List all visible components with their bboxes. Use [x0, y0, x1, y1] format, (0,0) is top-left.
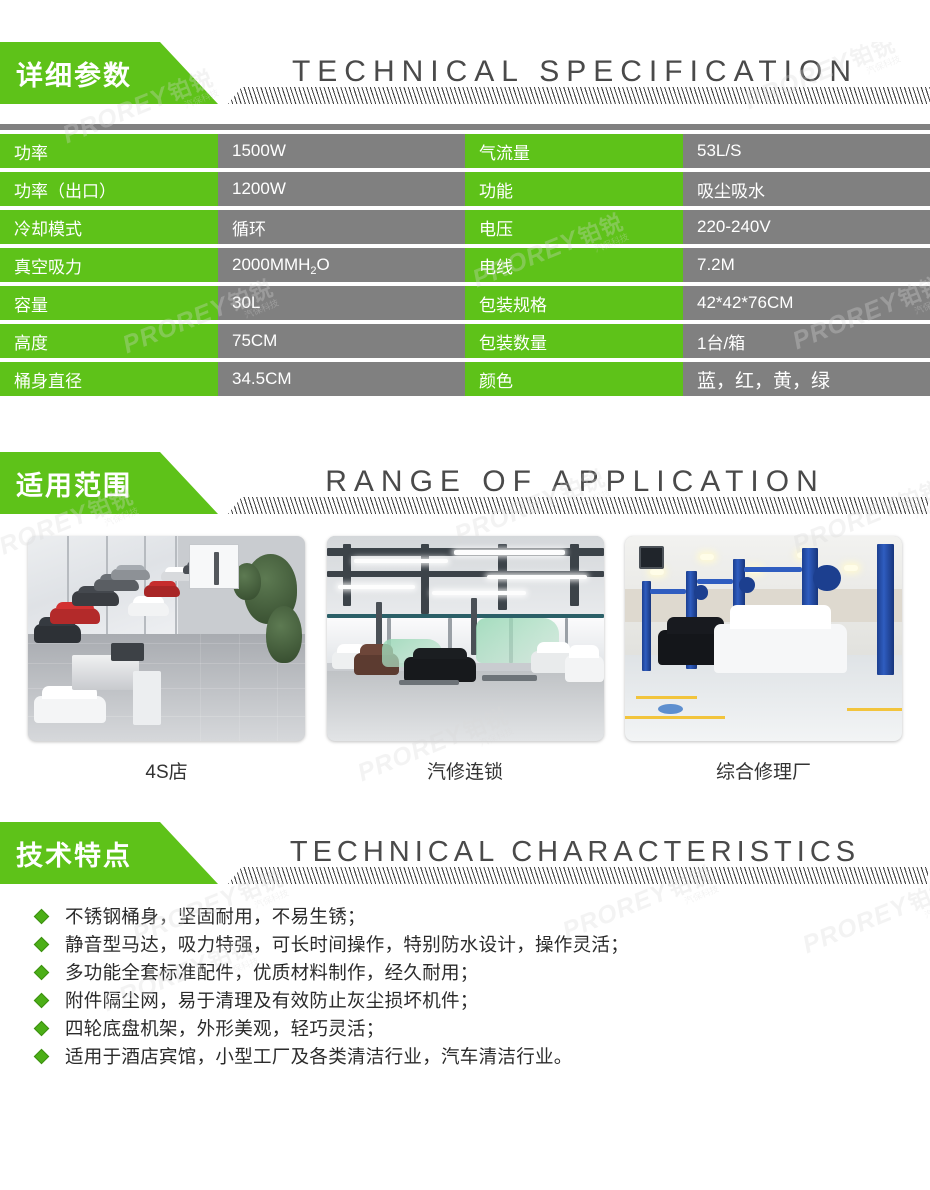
- table-row: 冷却模式 循环 电压 220-240V: [0, 210, 930, 244]
- section-tag-specification: 详细参数: [0, 42, 218, 104]
- section-title-english: RANGE OF APPLICATION: [228, 460, 922, 504]
- application-caption: 4S店: [28, 757, 305, 784]
- spec-value: 34.5CM: [218, 362, 465, 396]
- list-item: 不锈钢桶身，坚固耐用，不易生锈；: [36, 902, 930, 930]
- list-item: 多功能全套标准配件，优质材料制作，经久耐用；: [36, 958, 930, 986]
- spec-key: 功率: [0, 134, 218, 168]
- table-row: 桶身直径 34.5CM 颜色 蓝，红，黄，绿: [0, 362, 930, 396]
- diamond-bullet-icon: [34, 908, 50, 924]
- spec-key: 电压: [465, 210, 683, 244]
- spec-key: 电线: [465, 248, 683, 282]
- diamond-bullet-icon: [34, 1020, 50, 1036]
- diamond-bullet-icon: [34, 964, 50, 980]
- application-caption: 汽修连锁: [327, 757, 604, 784]
- spec-key: 包装数量: [465, 324, 683, 358]
- spec-key: 功能: [465, 172, 683, 206]
- section-tag-label: 适用范围: [0, 464, 132, 503]
- feature-text: 四轮底盘机架，外形美观，轻巧灵活；: [65, 1015, 385, 1041]
- feature-text: 静音型马达，吸力特强，可长时间操作，特别防水设计，操作灵活；: [65, 931, 629, 957]
- application-photo-workshop: [327, 536, 604, 741]
- spec-key: 功率（出口）: [0, 172, 218, 206]
- table-row: 功率（出口） 1200W 功能 吸尘吸水: [0, 172, 930, 206]
- section-tag-application: 适用范围: [0, 452, 218, 514]
- section-tag-label: 详细参数: [0, 54, 132, 93]
- vacuum-subscript: 2: [310, 265, 316, 277]
- list-item: 四轮底盘机架，外形美观，轻巧灵活；: [36, 1014, 930, 1042]
- spec-value: 30L: [218, 286, 465, 320]
- specification-table-wrapper: 功率 1500W 气流量 53L/S 功率（出口） 1200W 功能 吸尘吸水 …: [0, 124, 930, 400]
- diamond-bullet-icon: [34, 936, 50, 952]
- spec-value: 220-240V: [683, 210, 930, 244]
- spec-key: 气流量: [465, 134, 683, 168]
- table-row: 容量 30L 包装规格 42*42*76CM: [0, 286, 930, 320]
- spec-key: 容量: [0, 286, 218, 320]
- application-card: 汽修连锁: [327, 536, 604, 784]
- diamond-bullet-icon: [34, 1048, 50, 1064]
- feature-text: 适用于酒店宾馆，小型工厂及各类清洁行业，汽车清洁行业。: [65, 1043, 573, 1069]
- spec-key: 颜色: [465, 362, 683, 396]
- spec-key: 桶身直径: [0, 362, 218, 396]
- diamond-bullet-icon: [34, 992, 50, 1008]
- spec-key: 真空吸力: [0, 248, 218, 282]
- application-card: 综合修理厂: [625, 536, 902, 784]
- list-item: 附件隔尘网，易于清理及有效防止灰尘损坏机件；: [36, 986, 930, 1014]
- spec-value: 1500W: [218, 134, 465, 168]
- spec-value: 吸尘吸水: [683, 172, 930, 206]
- vacuum-prefix: 2000MMH: [232, 255, 310, 274]
- section-header-application: 适用范围 RANGE OF APPLICATION: [0, 452, 930, 514]
- spec-key: 高度: [0, 324, 218, 358]
- table-row: 高度 75CM 包装数量 1台/箱: [0, 324, 930, 358]
- table-row: 真空吸力 2000MMH2O 电线 7.2M: [0, 248, 930, 282]
- spec-value: 42*42*76CM: [683, 286, 930, 320]
- section-header-specification: 详细参数 TECHNICAL SPECIFICATION: [0, 42, 930, 104]
- section-title-english: TECHNICAL SPECIFICATION: [228, 50, 922, 94]
- specification-table-body: 功率 1500W 气流量 53L/S 功率（出口） 1200W 功能 吸尘吸水 …: [0, 134, 930, 396]
- section-tag-characteristics: 技术特点: [0, 822, 218, 884]
- vacuum-suffix: O: [317, 255, 330, 274]
- spec-value: 75CM: [218, 324, 465, 358]
- feature-text: 不锈钢桶身，坚固耐用，不易生锈；: [65, 903, 366, 929]
- spec-value: 7.2M: [683, 248, 930, 282]
- section-header-characteristics: 技术特点 TECHNICAL CHARACTERISTICS: [0, 822, 930, 884]
- spec-value-vacuum: 2000MMH2O: [218, 248, 465, 282]
- spec-value: 1台/箱: [683, 324, 930, 358]
- spec-key: 包装规格: [465, 286, 683, 320]
- application-caption: 综合修理厂: [625, 757, 902, 784]
- section-title-english: TECHNICAL CHARACTERISTICS: [228, 830, 922, 874]
- table-row: 功率 1500W 气流量 53L/S: [0, 134, 930, 168]
- feature-text: 多功能全套标准配件，优质材料制作，经久耐用；: [65, 959, 479, 985]
- application-photo-showroom: [28, 536, 305, 741]
- spec-value: 53L/S: [683, 134, 930, 168]
- list-item: 静音型马达，吸力特强，可长时间操作，特别防水设计，操作灵活；: [36, 930, 930, 958]
- spec-value: 循环: [218, 210, 465, 244]
- spec-key: 冷却模式: [0, 210, 218, 244]
- feature-list: 不锈钢桶身，坚固耐用，不易生锈； 静音型马达，吸力特强，可长时间操作，特别防水设…: [0, 902, 930, 1070]
- specification-table: 功率 1500W 气流量 53L/S 功率（出口） 1200W 功能 吸尘吸水 …: [0, 130, 930, 400]
- spec-value-colors: 蓝，红，黄，绿: [683, 362, 930, 396]
- feature-text: 附件隔尘网，易于清理及有效防止灰尘损坏机件；: [65, 987, 479, 1013]
- section-tag-label: 技术特点: [0, 834, 132, 873]
- application-gallery: 4S店: [0, 536, 930, 784]
- list-item: 适用于酒店宾馆，小型工厂及各类清洁行业，汽车清洁行业。: [36, 1042, 930, 1070]
- application-photo-service-bay: [625, 536, 902, 741]
- application-card: 4S店: [28, 536, 305, 784]
- spec-value: 1200W: [218, 172, 465, 206]
